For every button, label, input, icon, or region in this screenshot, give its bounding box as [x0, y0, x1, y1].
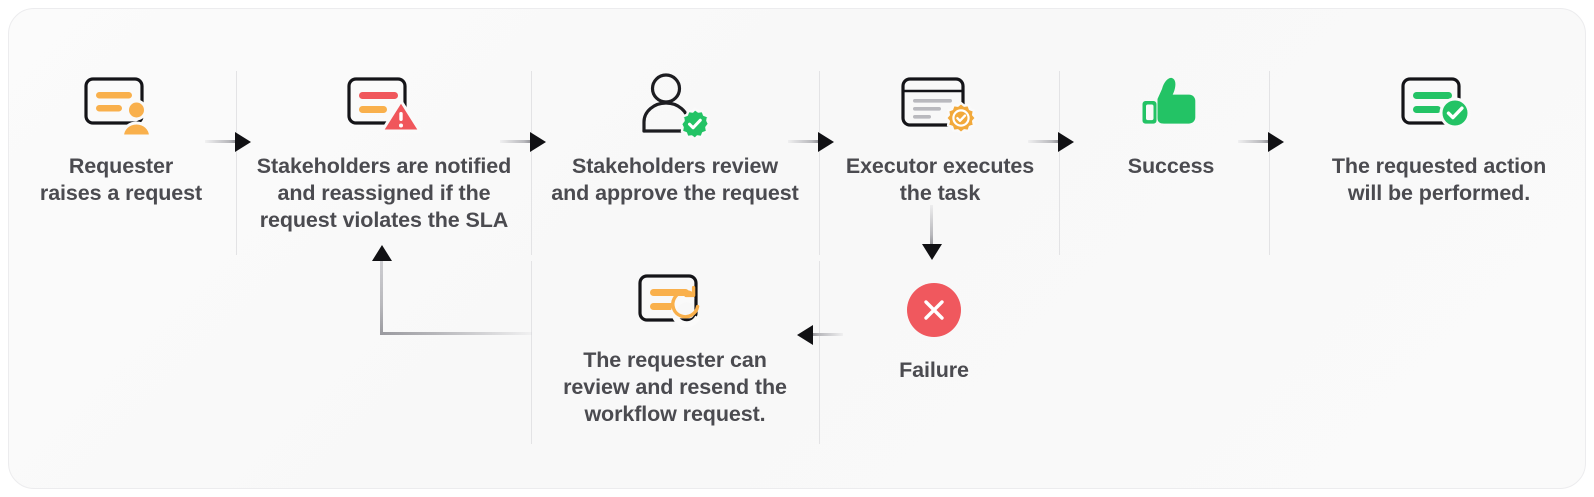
divider-2-upper [531, 71, 532, 255]
node-stakeholders-approve: Stakeholders review and approve the requ… [547, 67, 803, 207]
node-label: Requester raises a request [40, 153, 202, 207]
node-label: Success [1128, 153, 1215, 180]
node-action-performed: The requested action will be performed. [1305, 67, 1573, 207]
node-stakeholders-notified: Stakeholders are notified and reassigned… [254, 67, 514, 234]
divider-1 [236, 71, 237, 255]
divider-3-lower [819, 261, 820, 444]
divider-4 [1059, 71, 1060, 255]
node-label: Failure [899, 357, 969, 384]
document-resend-icon [634, 271, 716, 333]
node-label: The requester can review and resend the … [563, 347, 787, 428]
node-executor: Executor executes the task [829, 67, 1051, 207]
node-success: Success [1071, 67, 1271, 180]
arrowhead-icon [922, 244, 942, 260]
arrowhead-icon [235, 132, 251, 152]
thumbs-up-icon [1138, 67, 1204, 139]
arrowhead-icon [372, 245, 392, 261]
node-label: Stakeholders are notified and reassigned… [257, 153, 511, 234]
connector-executor-to-failure [930, 205, 933, 247]
node-requester: Requester raises a request [17, 67, 225, 207]
window-gear-icon [898, 67, 982, 139]
node-requester-resend: The requester can review and resend the … [547, 271, 803, 428]
node-label: Executor executes the task [846, 153, 1034, 207]
document-check-icon [1397, 67, 1481, 139]
node-label: Stakeholders review and approve the requ… [551, 153, 798, 207]
user-verified-icon [635, 67, 715, 139]
circle-x-icon [905, 281, 963, 339]
node-failure: Failure [839, 281, 1029, 384]
connector-resend-loop-horizontal [380, 332, 532, 335]
workflow-diagram-card: Requester raises a request Stakeholders … [8, 8, 1586, 489]
divider-2-lower [531, 261, 532, 444]
node-label: The requested action will be performed. [1332, 153, 1546, 207]
document-alert-icon [343, 67, 425, 139]
connector-resend-loop-vertical [380, 258, 383, 335]
document-user-icon [81, 67, 161, 139]
divider-3-upper [819, 71, 820, 255]
arrowhead-icon [530, 132, 546, 152]
